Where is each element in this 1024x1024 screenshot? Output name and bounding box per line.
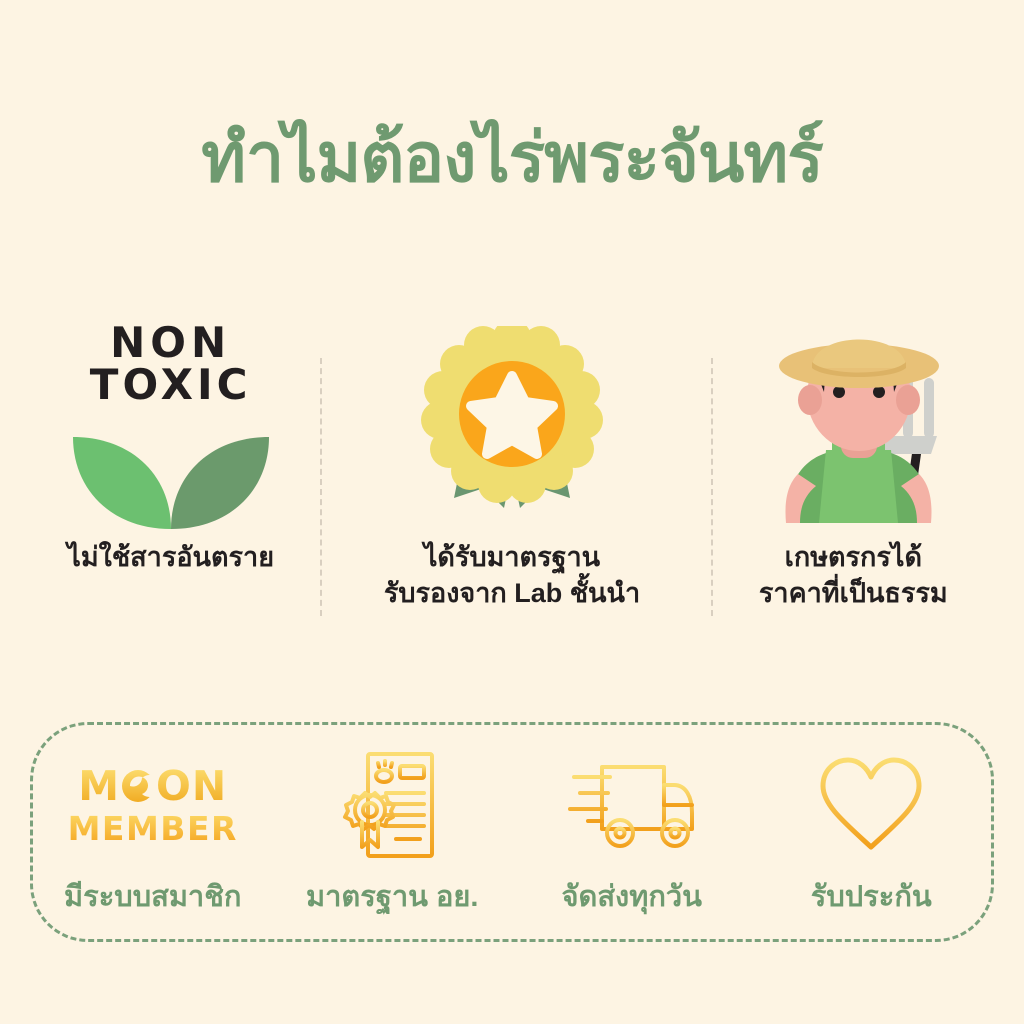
feature-label-non-toxic: ไม่ใช้สารอันตราย	[67, 539, 274, 575]
feature-divider-2	[711, 358, 713, 616]
non-toxic-wordmark: NON TOXIC	[90, 322, 252, 404]
heart-icon	[815, 751, 927, 859]
page-title: ทำไมต้องไร่พระจันทร์	[0, 118, 1024, 200]
moon-member-logo: M	[68, 751, 238, 859]
moon-letter-o: O	[156, 766, 192, 807]
member-label-moon-member: มีระบบสมาชิก	[64, 873, 241, 919]
certificate-svg	[340, 750, 444, 860]
badge-svg	[412, 326, 612, 526]
member-benefits-row: M	[33, 725, 991, 939]
feature-fair-price: เกษตรกรได้ ราคาที่เป็นธรรม	[683, 318, 1024, 638]
moon-letter-n: N	[192, 766, 227, 807]
member-benefits-panel: M	[30, 722, 994, 942]
farmer-with-pitchfork-icon	[746, 318, 961, 533]
certificate-document-icon	[340, 751, 444, 859]
feature-certified: ได้รับมาตรฐาน รับรองจาก Lab ชั้นนำ	[341, 318, 682, 638]
member-item-certificate: มาตรฐาน อย.	[273, 725, 513, 939]
feature-divider-1	[320, 358, 322, 616]
delivery-truck-icon	[566, 751, 698, 859]
farmer-svg	[746, 318, 961, 533]
leaf-pair-icon	[71, 411, 271, 529]
infographic-page: ทำไมต้องไร่พระจันทร์ NON TOXIC ไม่ใช้สาร…	[0, 0, 1024, 1024]
feature-non-toxic: NON TOXIC ไม่ใช้สารอันตราย	[0, 318, 341, 638]
member-item-moon-member: M	[33, 725, 273, 939]
member-label-delivery: จัดส่งทุกวัน	[562, 873, 702, 919]
heart-svg	[815, 755, 927, 855]
crescent-moon-icon	[121, 768, 155, 804]
member-label-guarantee: รับประกัน	[811, 873, 932, 919]
non-toxic-line-2: TOXIC	[90, 364, 252, 405]
truck-svg	[566, 753, 698, 857]
non-toxic-leaves-icon: NON TOXIC	[71, 318, 271, 533]
feature-label-certified: ได้รับมาตรฐาน รับรองจาก Lab ชั้นนำ	[384, 539, 640, 612]
member-wordmark: MEMBER	[68, 812, 238, 845]
member-item-delivery: จัดส่งทุกวัน	[512, 725, 752, 939]
member-label-certificate: มาตรฐาน อย.	[306, 873, 478, 919]
moon-wordmark: M	[78, 766, 227, 807]
certified-badge-star-icon	[412, 318, 612, 533]
member-item-guarantee: รับประกัน	[752, 725, 992, 939]
non-toxic-line-1: NON	[110, 322, 231, 363]
moon-letter-m: M	[78, 766, 120, 807]
feature-row: NON TOXIC ไม่ใช้สารอันตราย	[0, 318, 1024, 638]
feature-label-fair-price: เกษตรกรได้ ราคาที่เป็นธรรม	[759, 539, 948, 612]
